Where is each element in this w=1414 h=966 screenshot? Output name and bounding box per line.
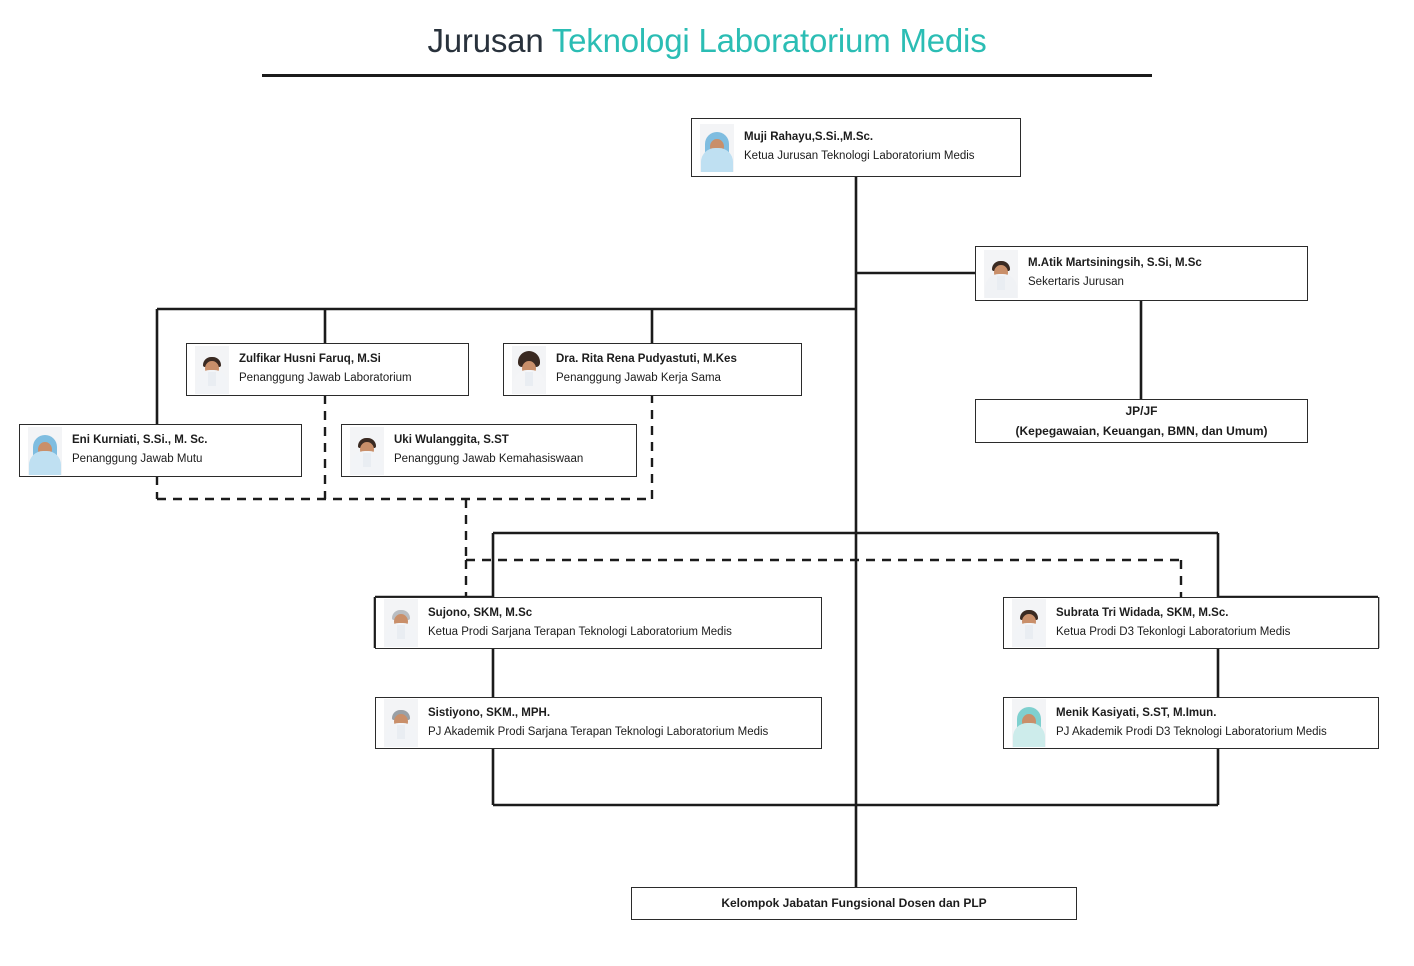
node-text: Muji Rahayu,S.Si.,M.Sc. Ketua Jurusan Te… <box>734 130 985 164</box>
node-text: M.Atik Martsiningsih, S.Si, M.Sc Sekerta… <box>1018 256 1212 290</box>
node-kaprodi-d3[interactable]: Subrata Tri Widada, SKM, M.Sc. Ketua Pro… <box>1003 597 1379 649</box>
person-role: PJ Akademik Prodi Sarjana Terapan Teknol… <box>428 725 768 741</box>
avatar-ketua-jurusan <box>700 124 734 172</box>
node-text: Sistiyono, SKM., MPH. PJ Akademik Prodi … <box>418 706 778 740</box>
avatar-kaprodi-d3 <box>1012 599 1046 647</box>
person-name: Dra. Rita Rena Pudyastuti, M.Kes <box>556 352 737 368</box>
node-text: Dra. Rita Rena Pudyastuti, M.Kes Penangg… <box>546 352 747 386</box>
node-text: Subrata Tri Widada, SKM, M.Sc. Ketua Pro… <box>1046 606 1300 640</box>
person-role: Ketua Prodi D3 Tekonlogi Laboratorium Me… <box>1056 625 1290 641</box>
avatar-pj-akademik-d3 <box>1012 699 1046 747</box>
node-text: Eni Kurniati, S.Si., M. Sc. Penanggung J… <box>62 433 217 467</box>
person-name: Eni Kurniati, S.Si., M. Sc. <box>72 433 207 449</box>
person-role: Ketua Prodi Sarjana Terapan Teknologi La… <box>428 625 732 641</box>
node-kelompok-jabatan-fungsional[interactable]: Kelompok Jabatan Fungsional Dosen dan PL… <box>631 887 1077 920</box>
person-name: Menik Kasiyati, S.ST, M.Imun. <box>1056 706 1327 722</box>
node-text: Uki Wulanggita, S.ST Penanggung Jawab Ke… <box>384 433 593 467</box>
node-pj-mutu[interactable]: Eni Kurniati, S.Si., M. Sc. Penanggung J… <box>19 424 302 477</box>
avatar-pj-mutu <box>28 427 62 475</box>
person-name: Subrata Tri Widada, SKM, M.Sc. <box>1056 606 1290 622</box>
avatar-sekertaris-jurusan <box>984 250 1018 298</box>
unit-name: JP/JF <box>1015 403 1267 419</box>
node-pj-kerja-sama[interactable]: Dra. Rita Rena Pudyastuti, M.Kes Penangg… <box>503 343 802 396</box>
person-name: Sistiyono, SKM., MPH. <box>428 706 768 722</box>
unit-name: Kelompok Jabatan Fungsional Dosen dan PL… <box>721 895 986 911</box>
avatar-pj-laboratorium <box>195 346 229 394</box>
node-text: JP/JF (Kepegawaian, Keuangan, BMN, dan U… <box>1009 403 1273 438</box>
node-text: Zulfikar Husni Faruq, M.Si Penanggung Ja… <box>229 352 422 386</box>
person-name: Zulfikar Husni Faruq, M.Si <box>239 352 412 368</box>
node-pj-akademik-sarjana-terapan[interactable]: Sistiyono, SKM., MPH. PJ Akademik Prodi … <box>375 697 822 749</box>
node-pj-laboratorium[interactable]: Zulfikar Husni Faruq, M.Si Penanggung Ja… <box>186 343 469 396</box>
unit-scope: (Kepegawaian, Keuangan, BMN, dan Umum) <box>1015 423 1267 439</box>
person-role: Penanggung Jawab Kemahasiswaan <box>394 452 583 468</box>
person-name: Muji Rahayu,S.Si.,M.Sc. <box>744 130 975 146</box>
person-name: M.Atik Martsiningsih, S.Si, M.Sc <box>1028 256 1202 272</box>
person-role: Penanggung Jawab Kerja Sama <box>556 371 737 387</box>
person-name: Sujono, SKM, M.Sc <box>428 606 732 622</box>
node-sekertaris-jurusan[interactable]: M.Atik Martsiningsih, S.Si, M.Sc Sekerta… <box>975 246 1308 301</box>
node-pj-akademik-d3[interactable]: Menik Kasiyati, S.ST, M.Imun. PJ Akademi… <box>1003 697 1379 749</box>
node-text: Kelompok Jabatan Fungsional Dosen dan PL… <box>715 895 992 911</box>
node-ketua-jurusan[interactable]: Muji Rahayu,S.Si.,M.Sc. Ketua Jurusan Te… <box>691 118 1021 177</box>
node-jp-jf[interactable]: JP/JF (Kepegawaian, Keuangan, BMN, dan U… <box>975 399 1308 443</box>
person-role: PJ Akademik Prodi D3 Teknologi Laborator… <box>1056 725 1327 741</box>
node-pj-kemahasiswaan[interactable]: Uki Wulanggita, S.ST Penanggung Jawab Ke… <box>341 424 637 477</box>
avatar-kaprodi-sarjana-terapan <box>384 599 418 647</box>
avatar-pj-akademik-sarjana-terapan <box>384 699 418 747</box>
avatar-pj-kerja-sama <box>512 346 546 394</box>
person-role: Penanggung Jawab Mutu <box>72 452 207 468</box>
person-role: Ketua Jurusan Teknologi Laboratorium Med… <box>744 149 975 165</box>
person-role: Penanggung Jawab Laboratorium <box>239 371 412 387</box>
node-kaprodi-sarjana-terapan[interactable]: Sujono, SKM, M.Sc Ketua Prodi Sarjana Te… <box>375 597 822 649</box>
avatar-pj-kemahasiswaan <box>350 427 384 475</box>
person-name: Uki Wulanggita, S.ST <box>394 433 583 449</box>
node-text: Sujono, SKM, M.Sc Ketua Prodi Sarjana Te… <box>418 606 742 640</box>
person-role: Sekertaris Jurusan <box>1028 275 1202 291</box>
node-text: Menik Kasiyati, S.ST, M.Imun. PJ Akademi… <box>1046 706 1337 740</box>
